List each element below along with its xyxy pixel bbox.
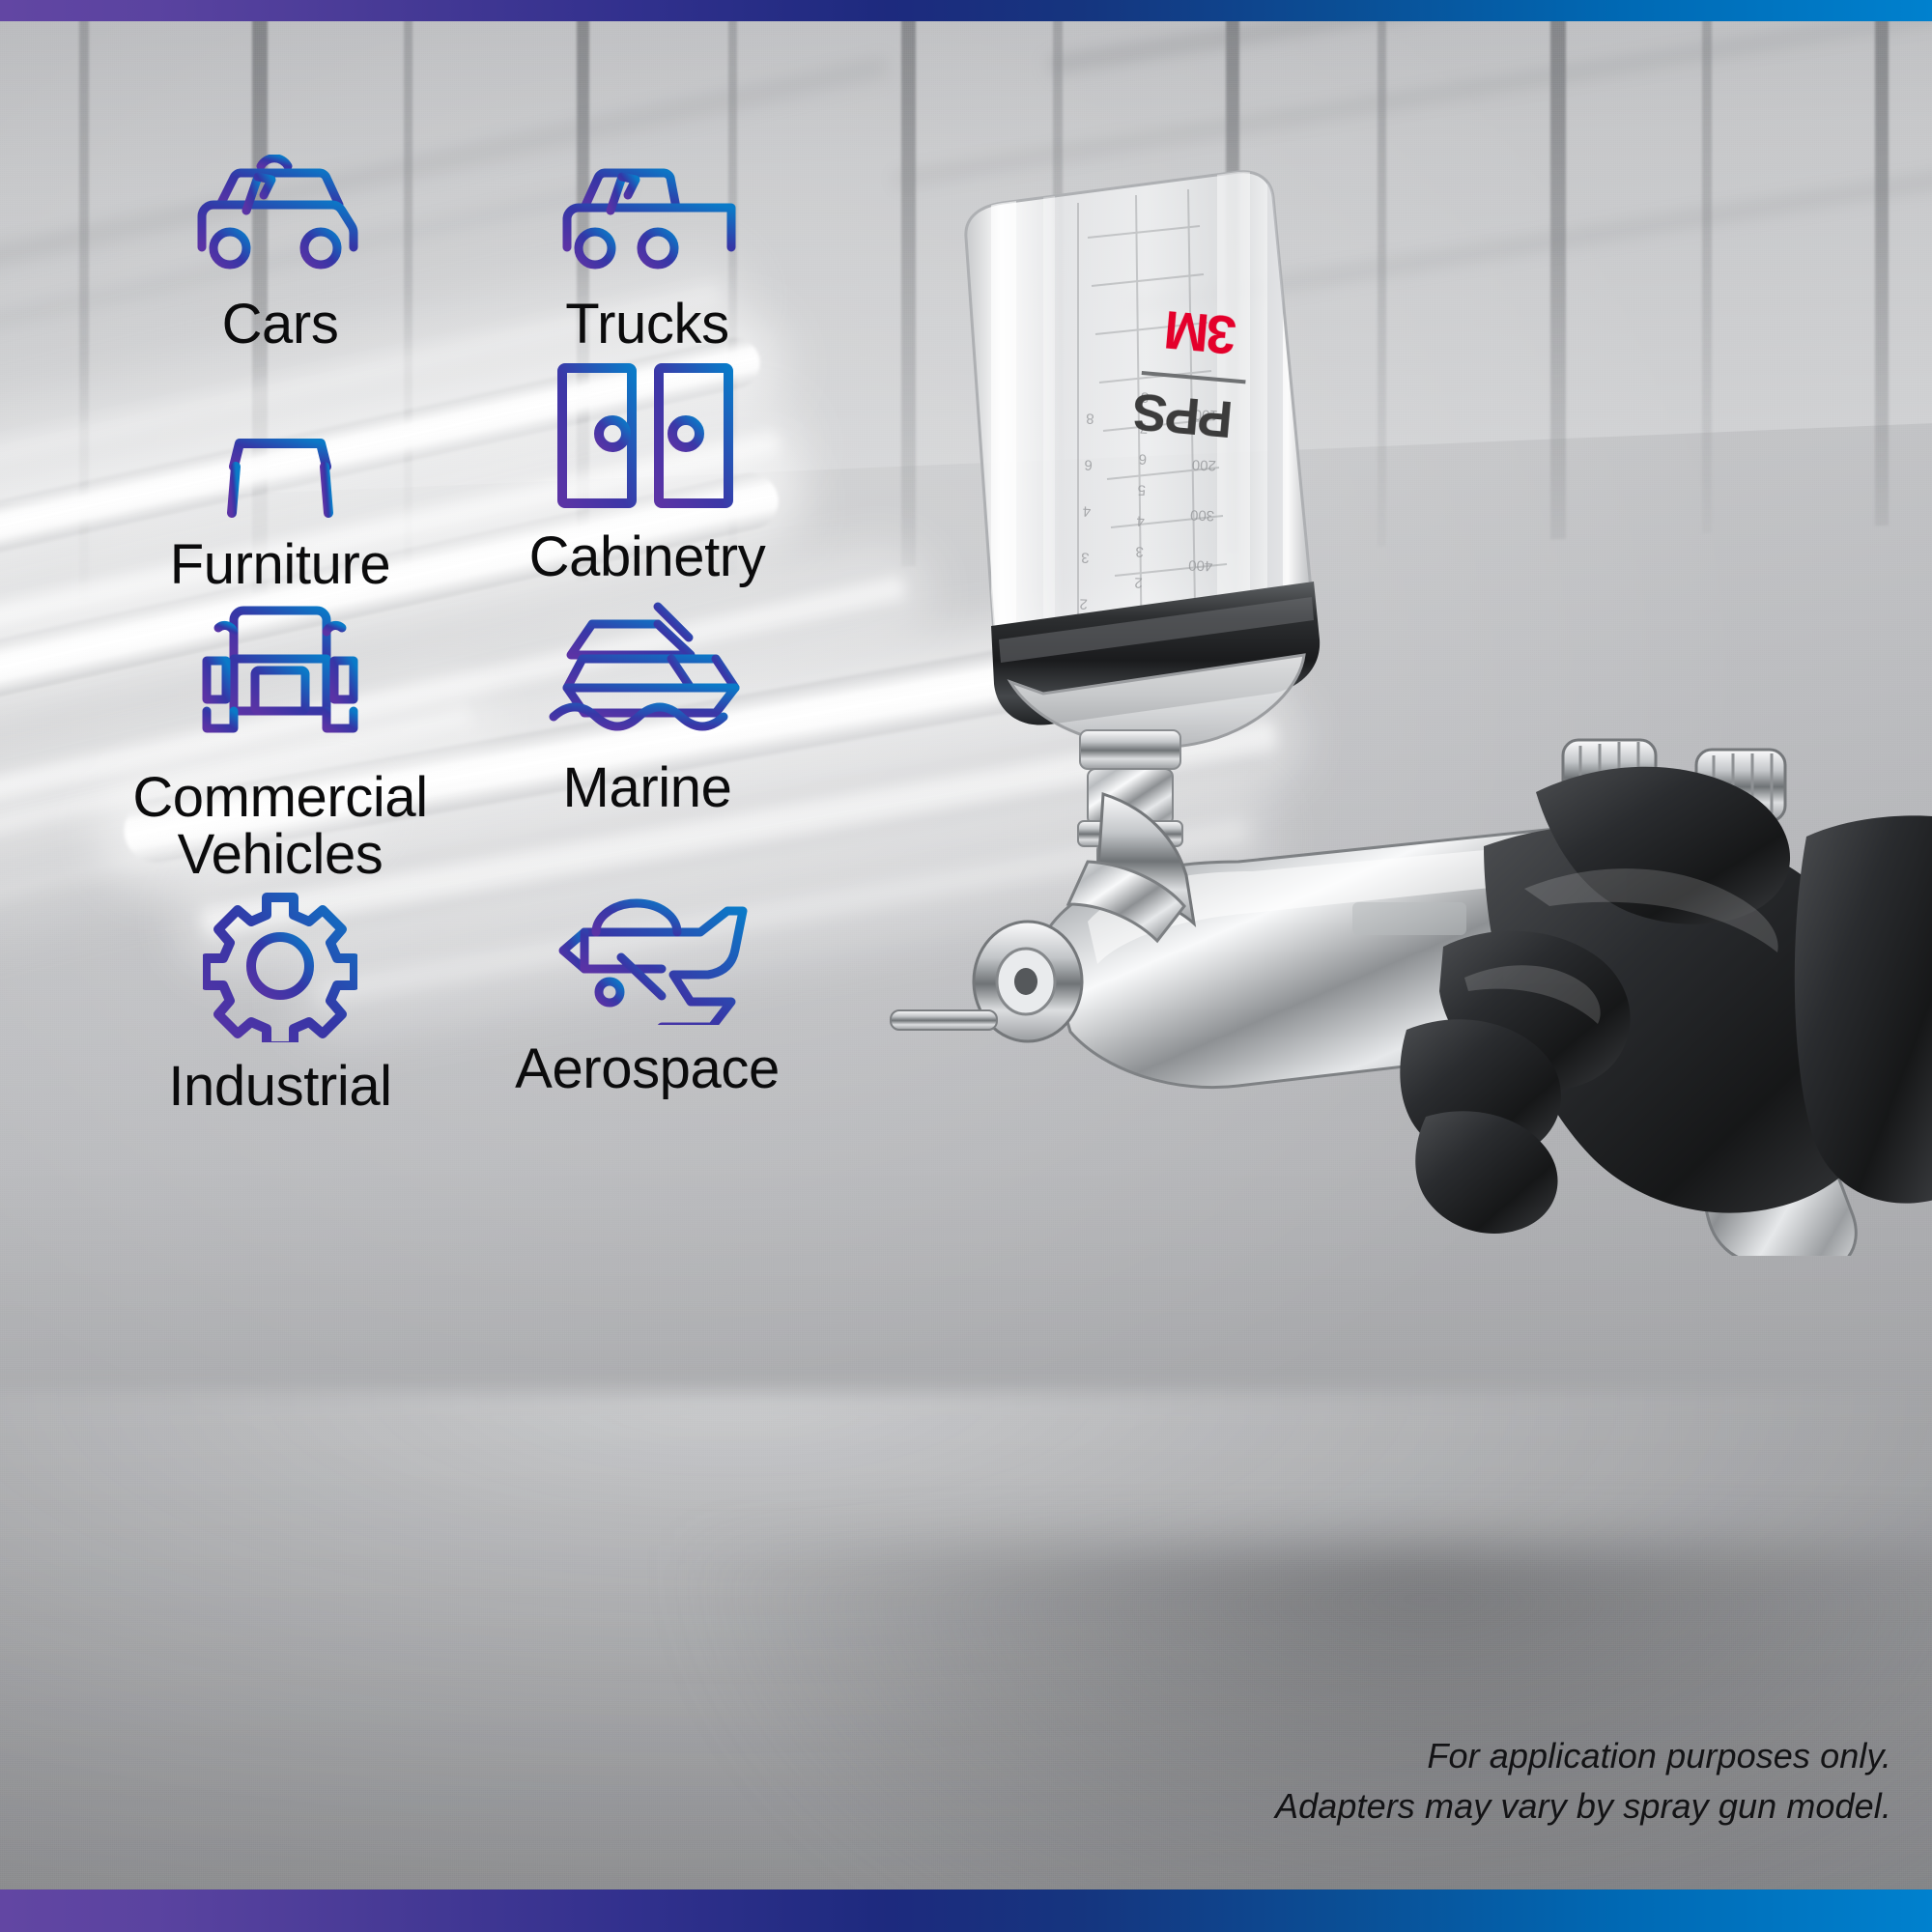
poster-canvas: 500400 300200 100 12 34 56 78 23 46 8 PP…	[0, 0, 1932, 1932]
disclaimer-line-2: Adapters may vary by spray gun model.	[1275, 1781, 1891, 1832]
svg-text:4: 4	[1136, 512, 1145, 528]
pps-wordmark: PPS	[1132, 383, 1236, 449]
market-item-cars[interactable]: Cars	[97, 155, 464, 358]
market-item-commercial-vehicles[interactable]: Commercial Vehicles	[97, 599, 464, 889]
svg-text:2: 2	[1134, 574, 1143, 590]
market-item-aerospace[interactable]: Aerospace	[464, 890, 831, 1121]
market-item-trucks[interactable]: Trucks	[464, 155, 831, 358]
svg-text:3: 3	[1135, 543, 1144, 559]
market-item-marine[interactable]: Marine	[464, 599, 831, 889]
disclaimer-line-1: For application purposes only.	[1275, 1731, 1891, 1781]
pps-cup: 500400 300200 100 12 34 56 78 23 46 8 PP…	[966, 155, 1320, 748]
market-label: Industrial	[168, 1058, 391, 1115]
boat-icon	[546, 599, 749, 744]
svg-text:300: 300	[1190, 506, 1215, 524]
top-gradient-bar	[0, 0, 1932, 21]
svg-text:6: 6	[1084, 456, 1093, 472]
cabinet-doors-icon	[551, 358, 744, 513]
market-label: Aerospace	[515, 1040, 780, 1097]
3m-wordmark: 3M	[1164, 299, 1238, 366]
airplane-icon	[546, 890, 749, 1025]
chair-icon	[203, 358, 357, 521]
market-label: Commercial Vehicles	[132, 769, 427, 883]
market-label: Trucks	[565, 296, 728, 353]
svg-text:2: 2	[1079, 595, 1088, 611]
air-cap	[891, 922, 1082, 1041]
car-icon	[175, 155, 385, 280]
spray-gun-with-pps-cup-photo: 500400 300200 100 12 34 56 78 23 46 8 PP…	[860, 116, 1932, 1256]
svg-text:5: 5	[1137, 481, 1146, 497]
semi-truck-front-icon	[195, 599, 365, 753]
gear-icon	[203, 890, 357, 1042]
market-item-industrial[interactable]: Industrial	[97, 890, 464, 1121]
bottom-gradient-bar	[0, 1889, 1932, 1932]
pickup-truck-icon	[542, 155, 753, 280]
svg-text:8: 8	[1086, 410, 1094, 426]
disclaimer-text: For application purposes only. Adapters …	[1275, 1731, 1891, 1832]
market-label: Cars	[222, 296, 339, 353]
market-label: Marine	[563, 759, 732, 816]
market-label: Furniture	[170, 536, 391, 593]
market-icon-grid: Cars Trucks	[97, 155, 831, 1121]
svg-text:200: 200	[1192, 456, 1217, 473]
market-item-furniture[interactable]: Furniture	[97, 358, 464, 599]
svg-text:6: 6	[1138, 450, 1147, 467]
svg-text:4: 4	[1083, 502, 1092, 519]
market-label: Cabinetry	[529, 528, 766, 585]
svg-text:3: 3	[1081, 549, 1090, 565]
svg-text:400: 400	[1188, 556, 1213, 574]
market-item-cabinetry[interactable]: Cabinetry	[464, 358, 831, 599]
